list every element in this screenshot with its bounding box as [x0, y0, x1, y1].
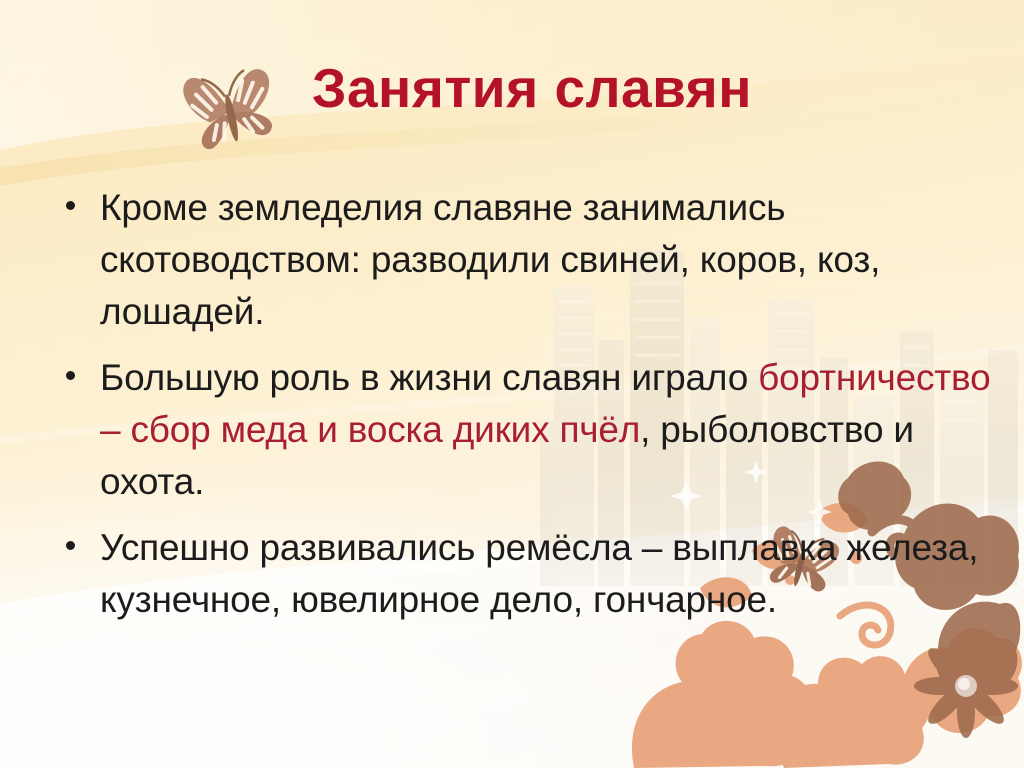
bullet-item-crafts: Успешно развивались ремёсла – выплавка ж… [52, 522, 992, 626]
slide-title: Занятия славян [0, 56, 1024, 120]
bullet-text-lead: Большую роль в жизни славян играло [100, 357, 758, 398]
presentation-slide: Занятия славян Кроме земледелия славяне … [0, 0, 1024, 768]
bullet-marker-icon [66, 201, 75, 210]
bullet-marker-icon [66, 371, 75, 380]
bullet-marker-icon [66, 541, 75, 550]
bullet-text: Успешно развивались ремёсла – выплавка ж… [100, 527, 978, 620]
bullet-text: Кроме земледелия славяне занимались скот… [100, 187, 880, 332]
bullet-item-beekeeping: Большую роль в жизни славян играло бортн… [52, 352, 992, 508]
slide-body: Кроме земледелия славяне занимались скот… [52, 182, 992, 640]
bullet-item-livestock: Кроме земледелия славяне занимались скот… [52, 182, 992, 338]
